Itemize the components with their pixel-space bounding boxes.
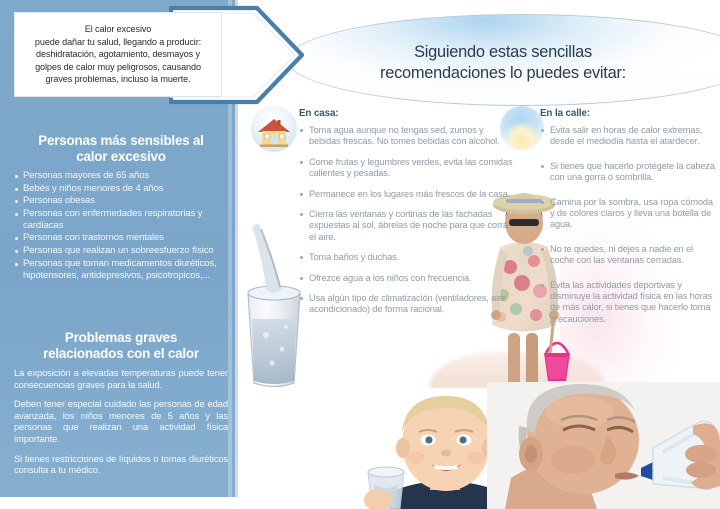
sensitive-title-line-2: calor excesivo bbox=[14, 149, 228, 165]
serious-problems-title: Problemas graves relacionados con el cal… bbox=[14, 330, 228, 362]
list-item: Come frutas y legumbres verdes, evita la… bbox=[299, 157, 517, 180]
elderly-man-drinking-bottle-photo bbox=[487, 382, 720, 509]
column-en-casa: En casa: Toma agua aunque no tengas sed,… bbox=[299, 108, 517, 325]
list-item: Camina por la sombra, usa ropa cómoda y … bbox=[540, 197, 716, 231]
house-icon bbox=[249, 104, 299, 154]
column-heading-en-la-calle: En la calle: bbox=[540, 108, 716, 119]
problems-title-line-2: relacionados con el calor bbox=[14, 346, 228, 362]
list-item: Permanece en los lugares más frescos de … bbox=[299, 189, 517, 200]
list-item: Personas que realizan un sobreesfuerzo f… bbox=[14, 245, 228, 257]
hero-banner-inner: Siguiendo estas sencillas recomendacione… bbox=[288, 15, 718, 106]
hero-banner-ellipse: Siguiendo estas sencillas recomendacione… bbox=[287, 14, 720, 106]
infographic-poster: El calor excesivo puede dañar tu salud, … bbox=[0, 0, 720, 509]
list-item: Personas con enfermedades respiratorias … bbox=[14, 208, 228, 232]
hero-line-1: Siguiendo estas sencillas bbox=[380, 42, 626, 63]
list-item: Evita salir en horas de calor extremas, … bbox=[540, 125, 716, 148]
list-item: Si tienes que hacerlo protégete la cabez… bbox=[540, 161, 716, 184]
list-item: Personas que toman medicamentos diurétic… bbox=[14, 258, 228, 282]
list-item: Bebés y niños menores de 4 años bbox=[14, 183, 228, 195]
callout-line-1: El calor excesivo bbox=[35, 23, 201, 36]
list-item: Toma baños y duchas. bbox=[299, 252, 517, 263]
column-heading-en-casa: En casa: bbox=[299, 108, 517, 119]
sensitive-people-list: Personas mayores de 65 años Bebés y niño… bbox=[14, 170, 228, 282]
list-item: Personas con trastornos mentales bbox=[14, 232, 228, 244]
column-en-la-calle: En la calle: Evita salir en horas de cal… bbox=[540, 108, 716, 338]
callout-line-3: deshidratación, agotamiento, desmayos y bbox=[35, 48, 201, 61]
warning-callout-box: El calor excesivo puede dañar tu salud, … bbox=[14, 12, 222, 97]
warning-callout-text: El calor excesivo puede dañar tu salud, … bbox=[29, 23, 207, 86]
sensitive-title-line-1: Personas más sensibles al bbox=[14, 133, 228, 149]
sensitive-people-title: Personas más sensibles al calor excesivo bbox=[14, 133, 228, 165]
list-item: Cierra las ventanas y cortinas de las fa… bbox=[299, 209, 517, 243]
problems-paragraph: La exposición a elevadas temperaturas pu… bbox=[14, 367, 228, 390]
list-item: Toma agua aunque no tengas sed, zumos y … bbox=[299, 125, 517, 148]
tips-list-en-la-calle: Evita salir en horas de calor extremas, … bbox=[540, 125, 716, 325]
list-item: No te quedes, ni dejes a nadie en el coc… bbox=[540, 244, 716, 267]
serious-problems-section: Problemas graves relacionados con el cal… bbox=[0, 330, 238, 484]
list-item: Personas mayores de 65 años bbox=[14, 170, 228, 182]
list-item: Personas obesas bbox=[14, 195, 228, 207]
sidebar-bottom-edge bbox=[0, 497, 238, 509]
list-item: Usa algún tipo de climatización (ventila… bbox=[299, 293, 517, 316]
hero-banner-text: Siguiendo estas sencillas recomendacione… bbox=[380, 38, 626, 84]
tips-list-en-casa: Toma agua aunque no tengas sed, zumos y … bbox=[299, 125, 517, 316]
list-item: Ofrezce agua a los niños con frecuencia. bbox=[299, 273, 517, 284]
callout-line-4: golpes de calor muy peligrosos, causando bbox=[35, 61, 201, 74]
hero-line-2: recomendaciones lo puedes evitar: bbox=[380, 63, 626, 84]
list-item: Evita las actividades deportivas y dismi… bbox=[540, 280, 716, 326]
problems-paragraph: Deben tener especial cuidado las persona… bbox=[14, 398, 228, 444]
problems-paragraph: Si tienes restricciones de líquidos o to… bbox=[14, 453, 228, 476]
callout-line-5: graves problemas, incluso la muerte. bbox=[35, 73, 201, 86]
problems-title-line-1: Problemas graves bbox=[14, 330, 228, 346]
callout-line-2: puede dañar tu salud, llegando a produci… bbox=[35, 36, 201, 49]
sensitive-people-section: Personas más sensibles al calor excesivo… bbox=[0, 133, 238, 282]
